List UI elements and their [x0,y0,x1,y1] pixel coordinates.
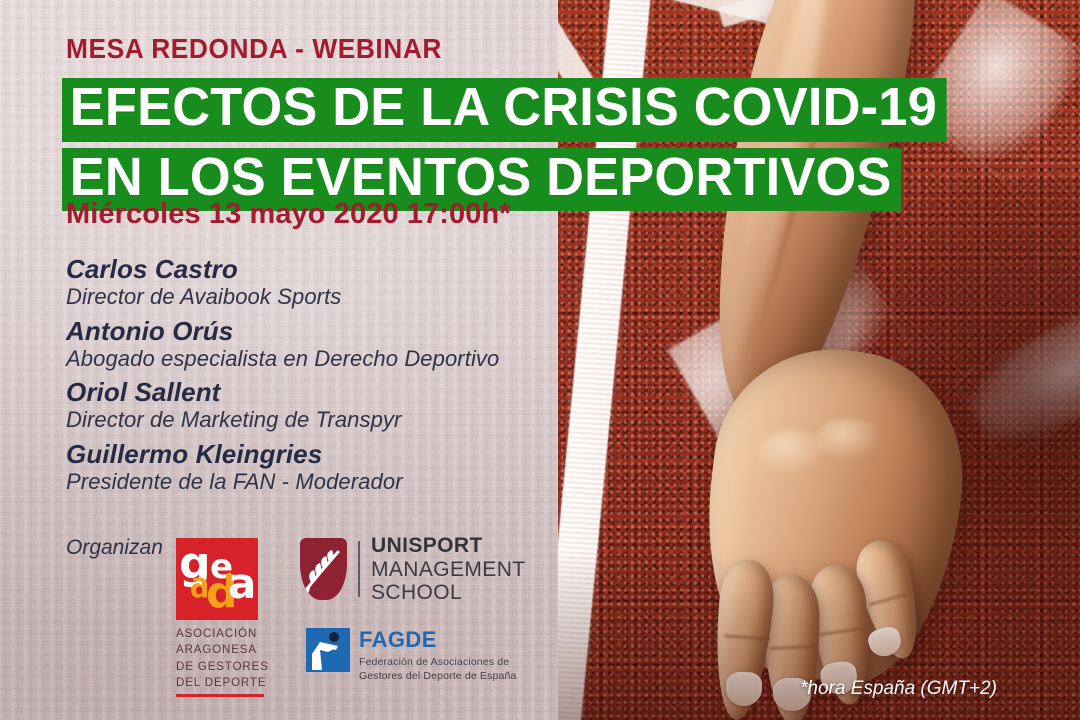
speaker-name: Carlos Castro [66,254,566,284]
speaker-entry: Carlos Castro Director de Avaibook Sport… [66,254,566,311]
geda-letter-a: a [228,563,256,605]
geda-tagline-line: DEL DEPORTE [176,675,272,691]
speaker-role: Director de Marketing de Transpyr [66,407,566,433]
laurel-branch-icon [304,544,344,594]
fagde-logo: FAGDE Federación de Asociaciones de Gest… [306,628,516,683]
geda-tagline-line: ARAGONESA [176,642,272,658]
speaker-entry: Antonio Orús Abogado especialista en Der… [66,316,566,373]
kicker-label: MESA REDONDA - WEBINAR [66,33,442,65]
speaker-name: Antonio Orús [66,316,566,346]
fagde-name: FAGDE [359,629,516,651]
unisport-logo: UNISPORT MANAGEMENT SCHOOL [300,534,526,605]
geda-tagline: ASOCIACIÓN ARAGONESA DE GESTORES DEL DEP… [176,626,272,691]
geda-mark-icon: g e g d a [176,538,258,620]
timezone-footnote: *hora España (GMT+2) [800,678,997,700]
speaker-name: Guillermo Kleingries [66,439,566,469]
speaker-role: Abogado especialista en Derecho Deportiv… [66,346,566,372]
unisport-line-2: MANAGEMENT [371,558,526,582]
poster-title: EFECTOS DE LA CRISIS COVID-19 EN LOS EVE… [62,78,974,215]
unisport-line-1: UNISPORT [371,534,526,558]
webinar-poster: MESA REDONDA - WEBINAR EFECTOS DE LA CRI… [0,0,1080,720]
fagde-mark-icon [306,628,350,672]
geda-underline [176,694,264,697]
logo-divider [358,541,360,597]
knuckle-highlight [816,418,882,462]
running-figure-icon [306,628,350,672]
speakers-list: Carlos Castro Director de Avaibook Sport… [66,254,566,500]
shield-icon [300,538,347,600]
organizers-label: Organizan [66,536,163,560]
speaker-entry: Guillermo Kleingries Presidente de la FA… [66,439,566,496]
title-line-1: EFECTOS DE LA CRISIS COVID-19 [62,78,947,142]
fagde-tagline-line: Gestores del Deporte de España [359,669,516,683]
speaker-role: Director de Avaibook Sports [66,284,566,310]
unisport-line-3: SCHOOL [371,581,526,605]
speaker-role: Presidente de la FAN - Moderador [66,469,566,495]
speaker-entry: Oriol Sallent Director de Marketing de T… [66,377,566,434]
geda-tagline-line: DE GESTORES [176,659,272,675]
geda-logo: g e g d a ASOCIACIÓN ARAGONESA DE GESTOR… [176,538,272,697]
fagde-tagline-line: Federación de Asociaciones de [359,655,516,669]
speaker-name: Oriol Sallent [66,377,566,407]
fagde-tagline: Federación de Asociaciones de Gestores d… [359,655,516,683]
geda-tagline-line: ASOCIACIÓN [176,626,272,642]
unisport-wordmark: UNISPORT MANAGEMENT SCHOOL [371,534,526,605]
fagde-wordmark: FAGDE Federación de Asociaciones de Gest… [359,628,516,683]
event-datetime: Miércoles 13 mayo 2020 17:00h* [66,198,511,231]
